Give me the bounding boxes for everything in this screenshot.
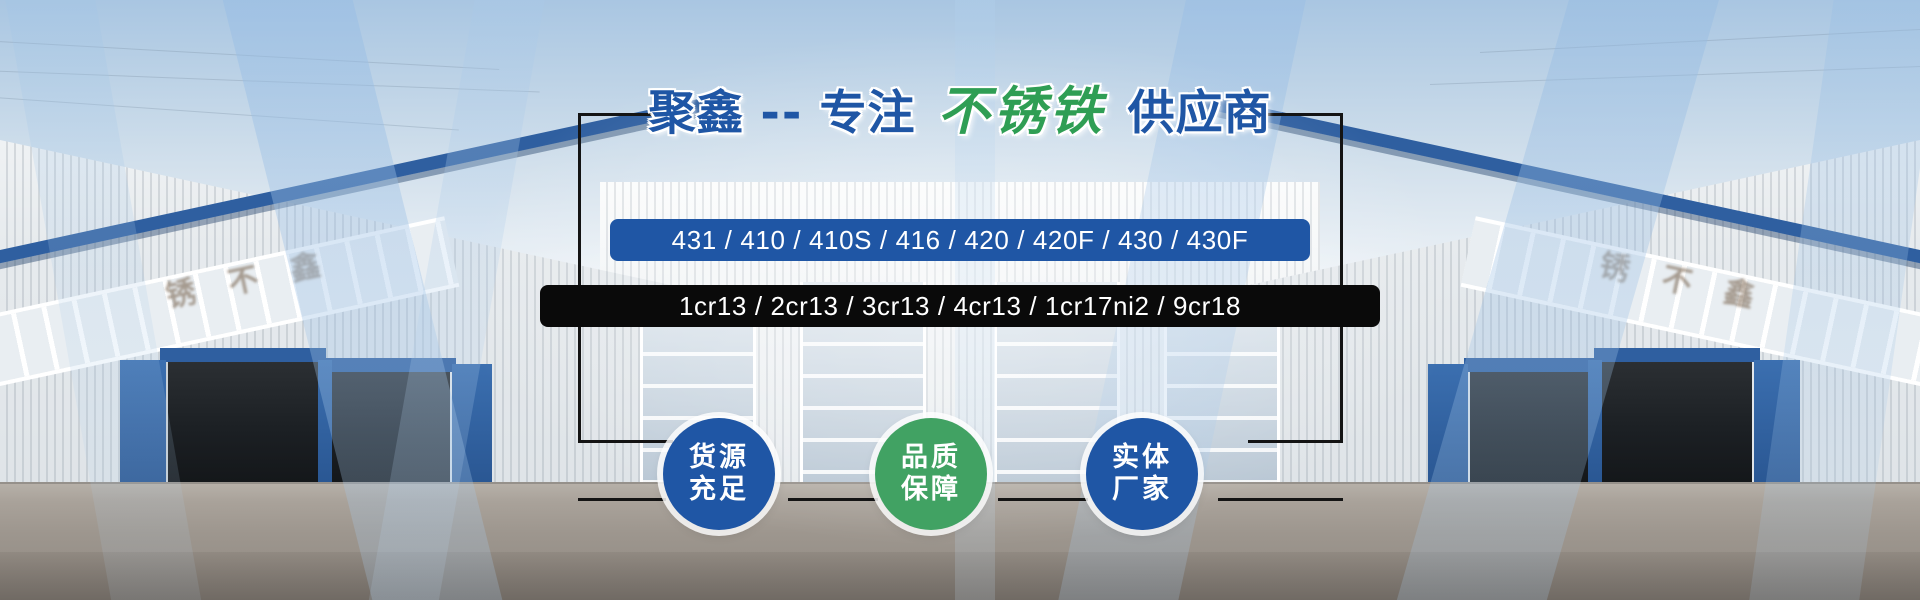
factory-banner: 锈 不 鑫 锈 不 鑫 <box>0 0 1920 600</box>
grade-bar-primary-text: 431 / 410 / 410S / 416 / 420 / 420F / 43… <box>672 225 1249 256</box>
badge-connector-line <box>998 498 1088 501</box>
badge-connector-line <box>578 498 666 501</box>
headline-brand: 聚鑫 <box>648 90 744 137</box>
badge-real-factory: 实体 厂家 <box>1086 418 1198 530</box>
grade-bar-secondary: 1cr13 / 2cr13 / 3cr13 / 4cr13 / 1cr17ni2… <box>540 285 1380 327</box>
badge-connector-line <box>788 498 878 501</box>
decorative-bracket-frame <box>578 113 1343 443</box>
badge-line-1: 实体 <box>1112 442 1172 474</box>
headline-dash: -- <box>758 90 805 137</box>
badge-line-1: 品质 <box>901 442 961 474</box>
grade-bar-secondary-text: 1cr13 / 2cr13 / 3cr13 / 4cr13 / 1cr17ni2… <box>679 291 1241 322</box>
headline-highlight-material: 不锈铁 <box>930 86 1114 138</box>
badge-quality-guarantee: 品质 保障 <box>875 418 987 530</box>
badge-line-2: 保障 <box>901 474 961 506</box>
headline-supplier: 供应商 <box>1128 90 1272 137</box>
grade-bar-primary: 431 / 410 / 410S / 416 / 420 / 420F / 43… <box>610 219 1310 261</box>
badge-connector-line <box>1218 498 1343 501</box>
badge-line-1: 货源 <box>689 442 749 474</box>
banner-headline: 聚鑫 -- 专注 不锈铁 供应商 <box>0 86 1920 138</box>
banner-content: 聚鑫 -- 专注 不锈铁 供应商 431 / 410 / 410S / 416 … <box>0 0 1920 600</box>
badge-line-2: 厂家 <box>1112 474 1172 506</box>
badge-supply-sufficient: 货源 充足 <box>663 418 775 530</box>
headline-focus: 专注 <box>820 90 916 137</box>
badge-line-2: 充足 <box>689 474 749 506</box>
